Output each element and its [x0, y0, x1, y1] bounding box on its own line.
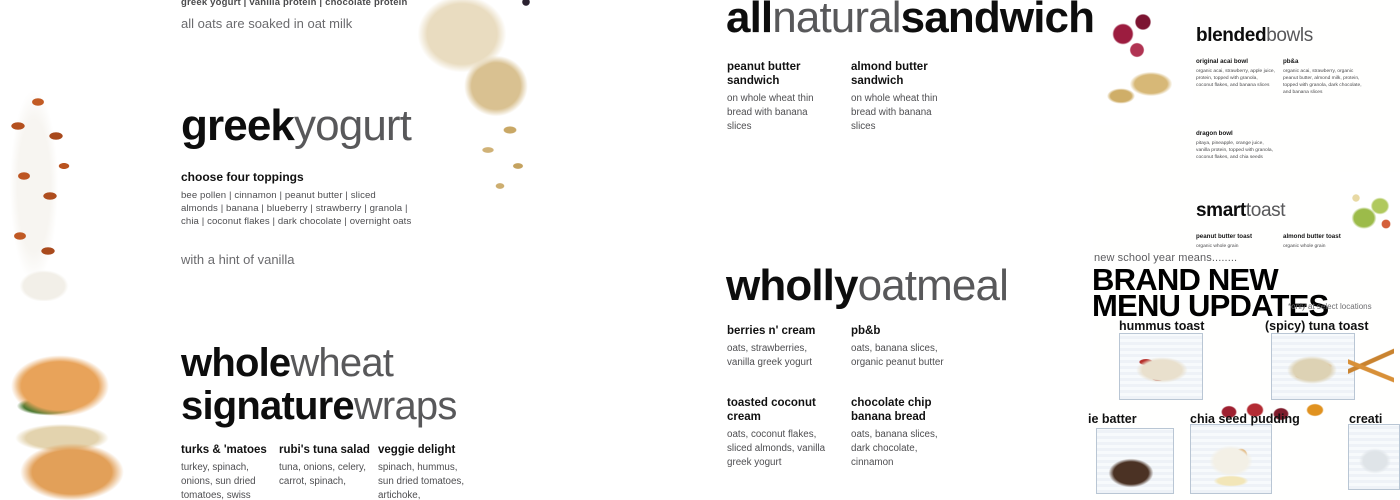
- pretzel-sticks-photo: [1348, 330, 1394, 406]
- menu-item-desc: spinach, hummus, sun dried tomatoes, art…: [378, 461, 473, 500]
- menu-item-name: turks & 'matoes: [181, 443, 273, 457]
- wraps-headline-line2: signaturewraps: [181, 386, 457, 426]
- menu-item-desc: pitaya, pineapple, orange juice, vanilla…: [1196, 140, 1276, 161]
- menu-item-desc: organic whole grain: [1283, 243, 1365, 250]
- vanilla-hint-note: with a hint of vanilla: [181, 252, 294, 267]
- menu-item-name: dragon bowl: [1196, 130, 1276, 138]
- greek-yogurt-headline-light: yogurt: [294, 101, 411, 150]
- sandwiches-headline: allnaturalsandwiches: [726, 0, 1141, 40]
- yogurt-almond-coconut-photo: [4, 36, 82, 301]
- menu-item-pb-and-a[interactable]: pb&a organic acai, strawberry, organic p…: [1283, 58, 1365, 96]
- menu-item-name: pb&a: [1283, 58, 1365, 66]
- menu-item-name: original acai bowl: [1196, 58, 1276, 66]
- menu-item-original-acai-bowl[interactable]: original acai bowl organic acai, strawbe…: [1196, 58, 1276, 89]
- menu-item-chocolate-chip-banana-bread[interactable]: chocolate chip banana bread oats, banana…: [851, 396, 957, 470]
- bowls-headline-blended: blended: [1196, 25, 1266, 46]
- menu-item-almond-butter-sandwich[interactable]: almond butter sandwich on whole wheat th…: [851, 60, 955, 134]
- menu-item-turks-matoes[interactable]: turks & 'matoes turkey, spinach, onions,…: [181, 443, 273, 500]
- creatine-photo: [1348, 424, 1400, 490]
- menu-item-pb-and-b[interactable]: pb&b oats, banana slices, organic peanut…: [851, 324, 955, 370]
- smart-toast-headline: smarttoast: [1196, 201, 1285, 220]
- menu-item-name: pb&b: [851, 324, 955, 338]
- wraps-headline-wraps: wraps: [354, 384, 457, 428]
- update-item-brownie-batter[interactable]: ie batter: [1088, 412, 1137, 426]
- menu-item-name: almond butter sandwich: [851, 60, 955, 88]
- menu-item-name: berries n' cream: [727, 324, 831, 338]
- menu-item-desc: on whole wheat thin bread with banana sl…: [851, 92, 955, 134]
- toast-headline-smart: smart: [1196, 200, 1246, 221]
- toast-headline-toast: toast: [1246, 200, 1285, 221]
- oatmeal-headline-oatmeal: oatmeal: [858, 261, 1008, 310]
- menu-item-almond-butter-toast[interactable]: almond butter toast organic whole grain: [1283, 233, 1365, 250]
- wrap-photo: [0, 340, 145, 500]
- left-menu-panel: greek yogurt | vanilla protein | chocola…: [0, 0, 547, 500]
- menu-item-veggie-delight[interactable]: veggie delight spinach, hummus, sun drie…: [378, 443, 473, 500]
- menu-item-name: toasted coconut cream: [727, 396, 827, 424]
- menu-item-name: veggie delight: [378, 443, 473, 457]
- menu-item-name: peanut butter toast: [1196, 233, 1276, 241]
- wraps-headline-whole: whole: [181, 341, 290, 385]
- menu-item-name: peanut butter sandwich: [727, 60, 827, 88]
- chia-seed-pudding-photo: [1190, 424, 1272, 494]
- toppings-list: bee pollen | cinnamon | peanut butter | …: [181, 189, 413, 229]
- bowls-headline-bowls: bowls: [1266, 25, 1313, 46]
- update-item-chia-seed-pudding[interactable]: chia seed pudding: [1190, 412, 1300, 426]
- menu-item-desc: oats, strawberries, vanilla greek yogurt: [727, 342, 831, 370]
- hummus-toast-photo: [1119, 333, 1203, 400]
- sandwiches-headline-natural: natural: [772, 0, 900, 42]
- menu-item-name: almond butter toast: [1283, 233, 1365, 241]
- menu-item-name: chocolate chip banana bread: [851, 396, 957, 424]
- menu-item-desc: oats, coconut flakes, sliced almonds, va…: [727, 428, 827, 470]
- spicy-tuna-toast-photo: [1271, 333, 1355, 400]
- wraps-headline-line1: wholewheat: [181, 343, 393, 383]
- update-item-creatine[interactable]: creati: [1349, 412, 1382, 426]
- menu-item-rubis-tuna-salad[interactable]: rubi's tuna salad tuna, onions, celery, …: [279, 443, 371, 489]
- greek-yogurt-headline-bold: greek: [181, 101, 294, 150]
- protein-options-cut-line: greek yogurt | vanilla protein | chocola…: [181, 0, 408, 8]
- menu-item-desc: oats, banana slices, organic peanut butt…: [851, 342, 955, 370]
- menu-item-toasted-coconut-cream[interactable]: toasted coconut cream oats, coconut flak…: [727, 396, 827, 470]
- menu-item-desc: organic whole grain: [1196, 243, 1276, 250]
- menu-item-desc: turkey, spinach, onions, sun dried tomat…: [181, 461, 273, 500]
- menu-item-peanut-butter-sandwich[interactable]: peanut butter sandwich on whole wheat th…: [727, 60, 827, 134]
- oat-milk-note: all oats are soaked in oat milk: [181, 16, 352, 31]
- menu-item-desc: tuna, onions, celery, carrot, spinach,: [279, 461, 371, 489]
- updates-disclaimer: *only at select locations: [1288, 302, 1372, 311]
- granola-oats-photo: [392, 0, 544, 205]
- menu-item-desc: on whole wheat thin bread with banana sl…: [727, 92, 827, 134]
- acai-berries-granola-photo: [1093, 0, 1193, 125]
- menu-item-desc: organic acai, strawberry, organic peanut…: [1283, 68, 1365, 96]
- blended-bowls-headline: blendedbowls: [1196, 26, 1313, 45]
- sandwiches-headline-all: all: [726, 0, 772, 42]
- menu-item-berries-n-cream[interactable]: berries n' cream oats, strawberries, van…: [727, 324, 831, 370]
- brownie-batter-photo: [1096, 428, 1174, 494]
- menu-board-canvas: greek yogurt | vanilla protein | chocola…: [0, 0, 1400, 500]
- menu-item-desc: organic acai, strawberry, apple juice, p…: [1196, 68, 1276, 89]
- choose-toppings-label: choose four toppings: [181, 170, 304, 184]
- update-item-hummus-toast[interactable]: hummus toast: [1119, 319, 1204, 333]
- menu-item-dragon-bowl[interactable]: dragon bowl pitaya, pineapple, orange ju…: [1196, 130, 1276, 161]
- oatmeal-headline-wholly: wholly: [726, 261, 858, 310]
- wraps-headline-signature: signature: [181, 384, 354, 428]
- update-item-spicy-tuna-toast[interactable]: (spicy) tuna toast: [1265, 319, 1369, 333]
- oatmeal-headline: whollyoatmeal: [726, 264, 1008, 308]
- menu-item-desc: oats, banana slices, dark chocolate, cin…: [851, 428, 957, 470]
- wraps-headline-wheat: wheat: [290, 341, 393, 385]
- greek-yogurt-headline: greekyogurt: [181, 104, 411, 148]
- menu-item-name: rubi's tuna salad: [279, 443, 371, 457]
- menu-item-peanut-butter-toast[interactable]: peanut butter toast organic whole grain: [1196, 233, 1276, 250]
